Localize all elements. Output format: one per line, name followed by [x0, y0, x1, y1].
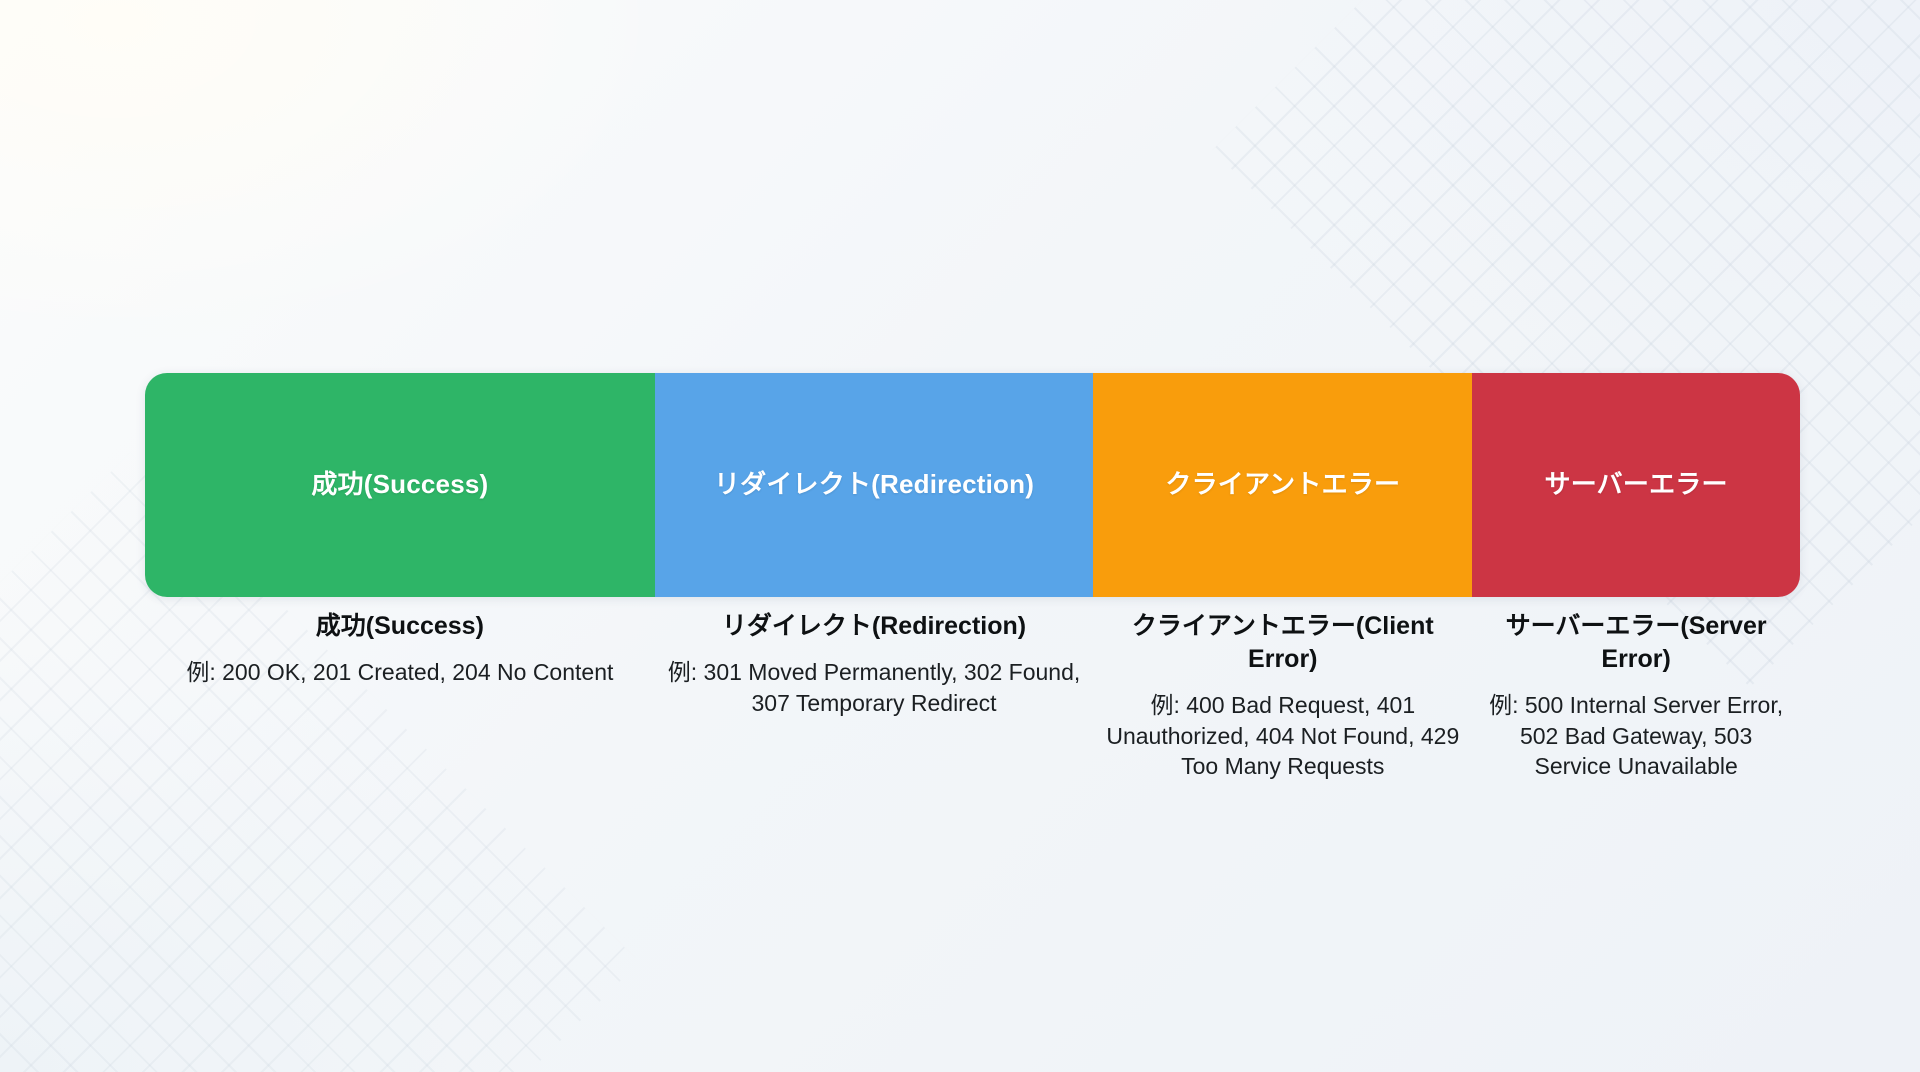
caption-title-success: 成功(Success)	[153, 610, 647, 643]
slide-canvas: 成功(Success) リダイレクト(Redirection) クライアントエラ…	[0, 0, 1920, 1072]
bar-segment-label-client-error: クライアントエラー	[1165, 469, 1400, 500]
caption-title-client-error: クライアントエラー(Client Error)	[1101, 610, 1464, 676]
caption-title-server-error: サーバーエラー(Server Error)	[1480, 610, 1792, 676]
caption-description-server-error: 例: 500 Internal Server Error, 502 Bad Ga…	[1480, 690, 1792, 782]
bar-segment-server-error[interactable]: サーバーエラー	[1472, 373, 1800, 597]
caption-description-success: 例: 200 OK, 201 Created, 204 No Content	[153, 657, 647, 688]
bar-segment-client-error[interactable]: クライアントエラー	[1093, 373, 1472, 597]
bar-segment-label-success: 成功(Success)	[311, 469, 488, 500]
caption-description-client-error: 例: 400 Bad Request, 401 Unauthorized, 40…	[1101, 690, 1464, 782]
caption-title-redirection: リダイレクト(Redirection)	[663, 610, 1086, 643]
http-status-class-bar: 成功(Success) リダイレクト(Redirection) クライアントエラ…	[145, 373, 1800, 597]
caption-server-error: サーバーエラー(Server Error) 例: 500 Internal Se…	[1472, 610, 1800, 782]
caption-row: 成功(Success) 例: 200 OK, 201 Created, 204 …	[145, 610, 1800, 782]
caption-description-redirection: 例: 301 Moved Permanently, 302 Found, 307…	[663, 657, 1086, 718]
caption-success: 成功(Success) 例: 200 OK, 201 Created, 204 …	[145, 610, 655, 688]
caption-redirection: リダイレクト(Redirection) 例: 301 Moved Permane…	[655, 610, 1094, 718]
bar-segment-redirection[interactable]: リダイレクト(Redirection)	[655, 373, 1094, 597]
bar-segment-success[interactable]: 成功(Success)	[145, 373, 655, 597]
caption-client-error: クライアントエラー(Client Error) 例: 400 Bad Reque…	[1093, 610, 1472, 782]
bar-segment-label-server-error: サーバーエラー	[1545, 469, 1728, 500]
bar-segment-label-redirection: リダイレクト(Redirection)	[714, 469, 1034, 500]
